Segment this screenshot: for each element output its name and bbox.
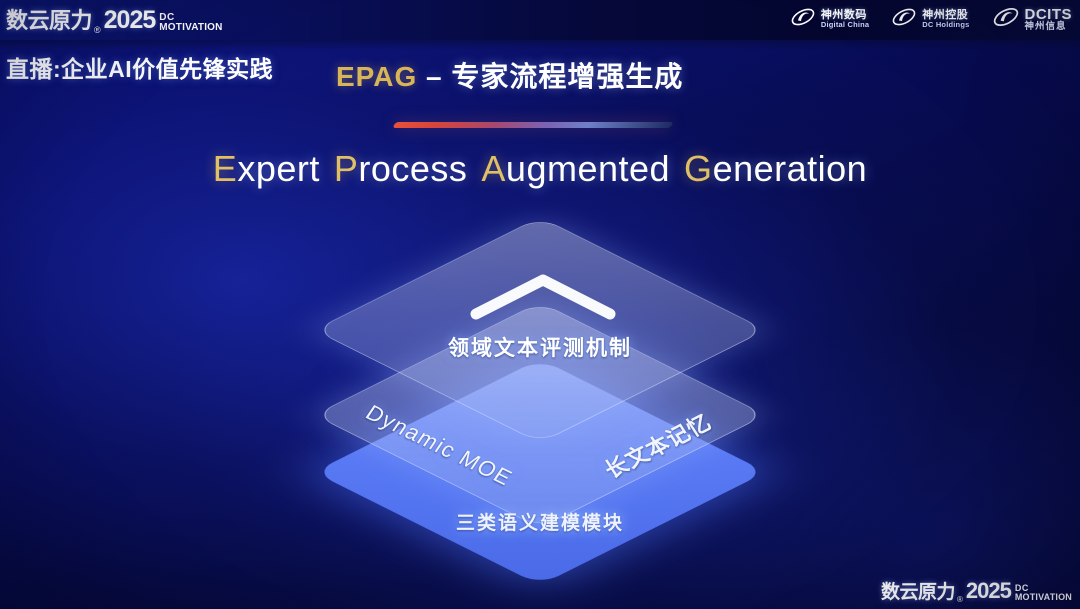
watermark-motivation: MOTIVATION (1015, 593, 1072, 602)
brand-logo-year: 2025 (104, 6, 156, 35)
watermark-logo: 数云原力® 2025 DC MOTIVATION (881, 577, 1072, 604)
partner-text: 神州控股 DC Holdings (922, 10, 969, 29)
partner-name-en: Digital China (821, 21, 869, 29)
subtitle-initial: G (684, 148, 713, 189)
partner-name-en: DC Holdings (922, 21, 969, 29)
subtitle-initial: P (334, 148, 359, 189)
subtitle-word-rest: rocess (358, 148, 467, 189)
brand-logo-motivation: MOTIVATION (159, 23, 222, 33)
watermark-reg: ® (957, 595, 963, 604)
subtitle-word-process: Process (334, 148, 468, 189)
slide-canvas: 数云原力® 2025 DC MOTIVATION 直播:企业AI价值先锋实践 神… (0, 0, 1080, 609)
watermark-year: 2025 (966, 578, 1011, 604)
subtitle-initial: A (481, 148, 506, 189)
swoosh-logo-icon (891, 6, 917, 33)
chevron-up-icon (468, 272, 618, 322)
swoosh-logo-icon (992, 5, 1020, 34)
partner-logo-dc-holdings: 神州控股 DC Holdings (891, 6, 969, 33)
subtitle-word-augmented: Augmented (481, 148, 670, 189)
subtitle-word-generation: Generation (684, 148, 867, 189)
partner-text: DCITS 神州信息 (1025, 7, 1073, 33)
diagram-layer-top-label: 领域文本评测机制 (0, 332, 1080, 362)
subtitle-word-rest: ugmented (506, 148, 670, 189)
subtitle-word-rest: xpert (237, 148, 320, 189)
headline-separator: – (417, 61, 451, 92)
headline-chinese: 专家流程增强生成 (451, 61, 683, 92)
brand-logo-dcm: DC MOTIVATION (159, 13, 222, 35)
swoosh-logo-icon (790, 6, 816, 33)
brand-logo-cn: 数云原力 (6, 3, 92, 35)
subtitle-word-rest: eneration (713, 148, 868, 189)
gradient-divider (392, 122, 673, 128)
subtitle-initial: E (213, 148, 238, 189)
subtitle-word-expert: Expert (213, 148, 320, 189)
partner-text: 神州数码 Digital China (821, 10, 869, 29)
subtitle: ExpertProcessAugmentedGeneration (0, 148, 1080, 190)
partner-name-cn: 神州信息 (1025, 22, 1073, 32)
headline-abbreviation: EPAG (336, 61, 417, 92)
watermark-cn: 数云原力 (881, 577, 955, 604)
diagram-layer-bottom-label: 三类语义建模模块 (0, 508, 1080, 535)
partner-logo-digital-china: 神州数码 Digital China (790, 6, 869, 33)
page-title: EPAG – 专家流程增强生成 (336, 55, 683, 95)
brand-logo: 数云原力® 2025 DC MOTIVATION (6, 3, 223, 35)
partner-logo-dcits: DCITS 神州信息 (992, 5, 1073, 34)
partner-logo-group: 神州数码 Digital China 神州控股 DC Holdings (790, 5, 1072, 34)
live-session-title: 直播:企业AI价值先锋实践 (6, 50, 273, 84)
brand-logo-reg: ® (94, 25, 101, 35)
watermark-dcm: DC MOTIVATION (1015, 584, 1072, 604)
